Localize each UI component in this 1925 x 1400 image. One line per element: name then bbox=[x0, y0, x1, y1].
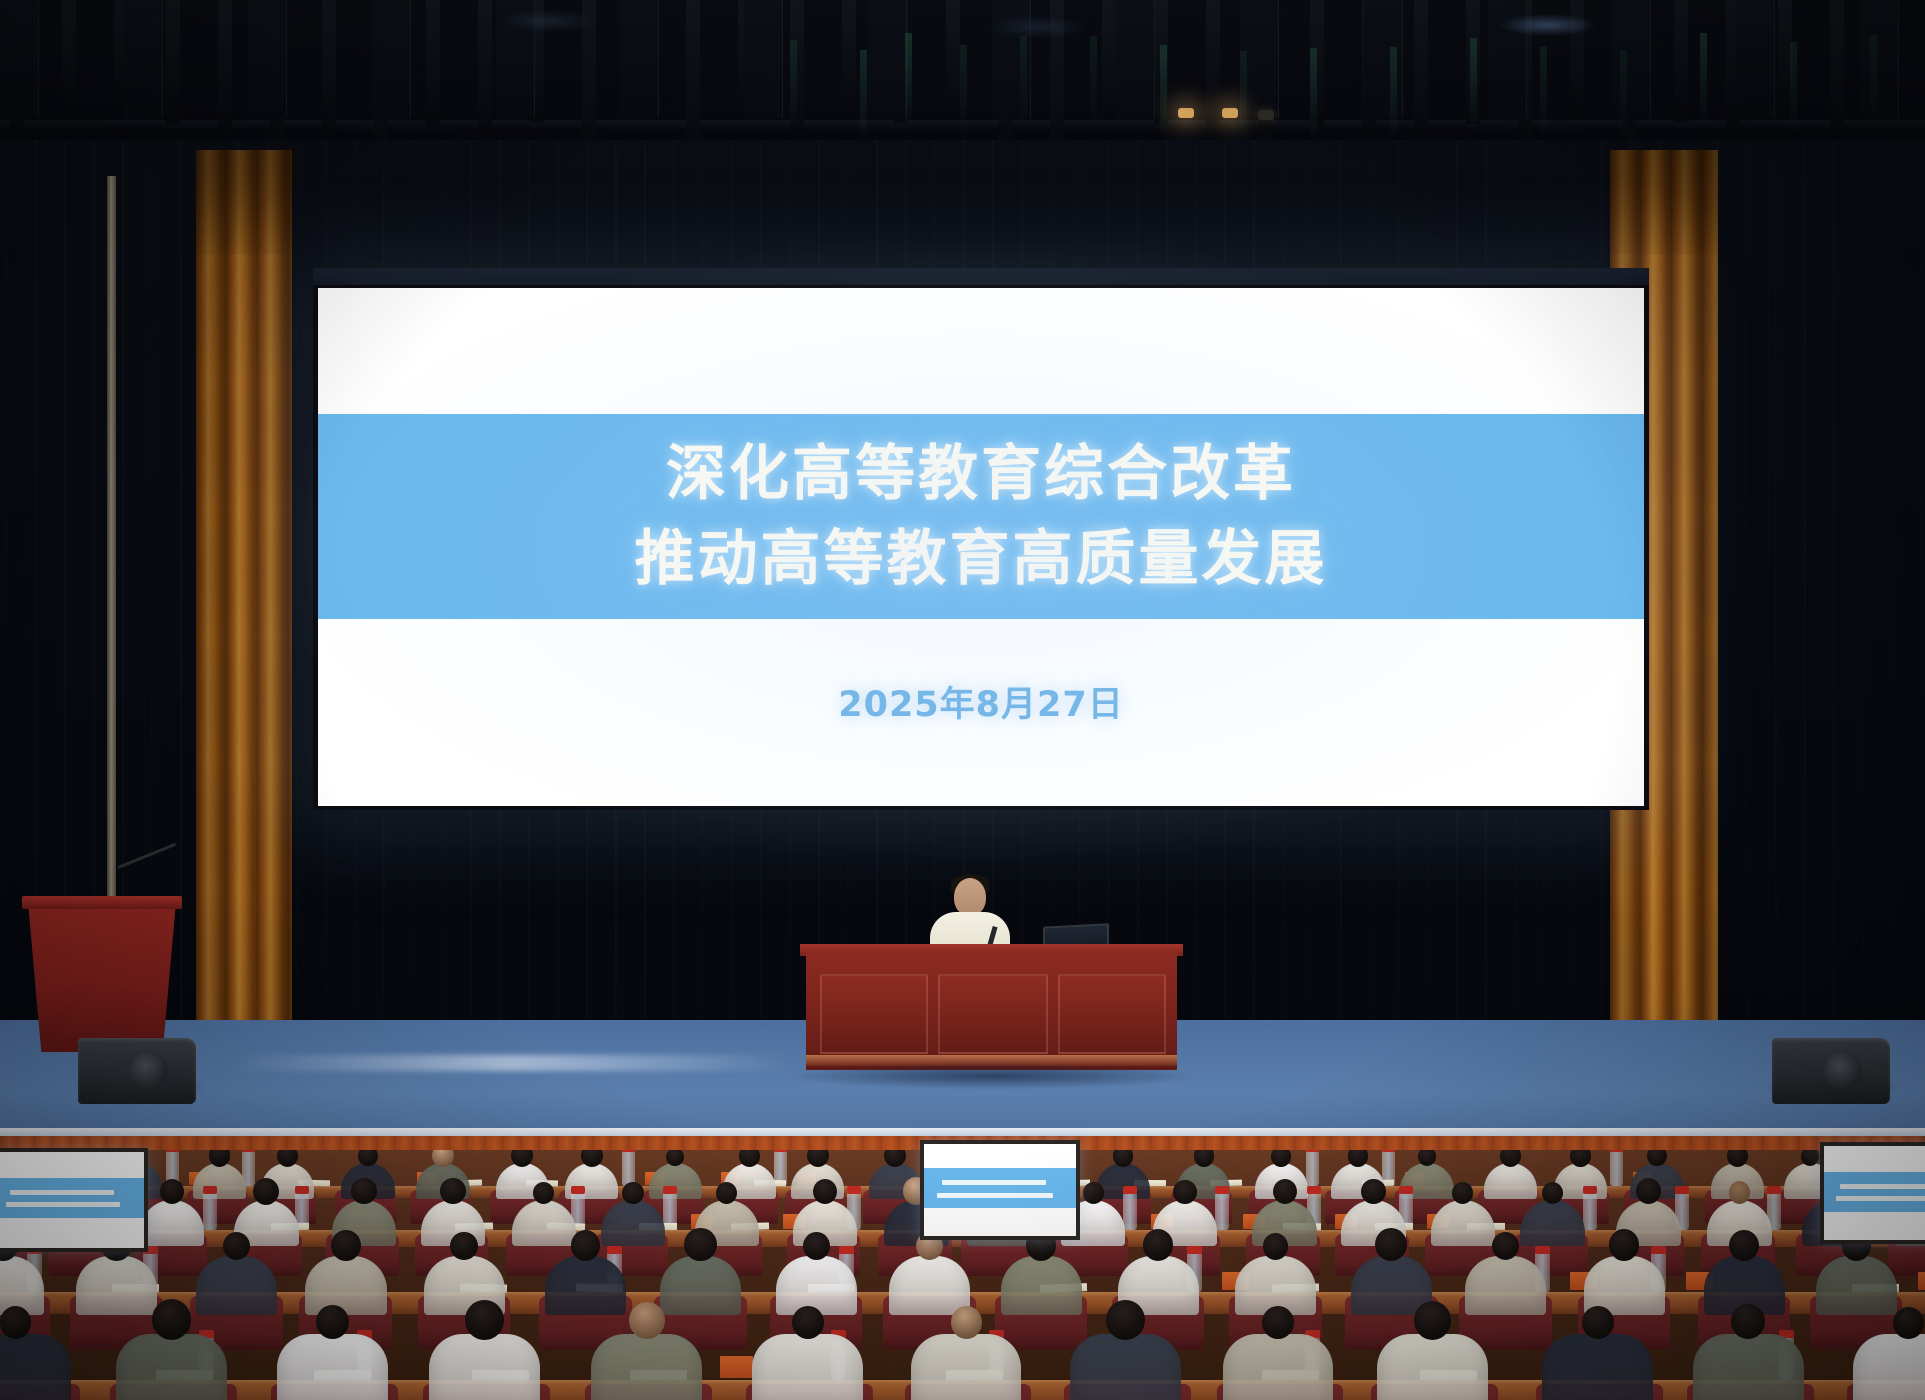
audience-head bbox=[792, 1306, 824, 1339]
audience-head bbox=[622, 1182, 643, 1204]
audience-head bbox=[813, 1179, 837, 1204]
audience-head bbox=[152, 1299, 191, 1340]
ceiling-glow bbox=[990, 16, 1086, 38]
green-light-strip bbox=[905, 33, 912, 125]
audience-person bbox=[752, 1334, 863, 1400]
mini-slide-title-line-1 bbox=[1840, 1184, 1925, 1189]
backdrop-fold bbox=[1775, 140, 1778, 1080]
audience-person bbox=[76, 1256, 157, 1315]
bottle-cap-icon bbox=[203, 1186, 217, 1194]
mini-slide-title-line-2 bbox=[6, 1202, 120, 1207]
truss-bar bbox=[946, 0, 960, 112]
audience-person bbox=[889, 1256, 970, 1315]
audience-person bbox=[776, 1256, 857, 1315]
bottle-cap-icon bbox=[1123, 1186, 1137, 1194]
bottle-cap-icon bbox=[839, 1246, 854, 1254]
audience-head bbox=[440, 1178, 466, 1205]
auditorium-photo: 深化高等教育综合改革 推动高等教育高质量发展 2025年8月27日 bbox=[0, 0, 1925, 1400]
audience-person bbox=[591, 1334, 702, 1400]
bottle-cap-icon bbox=[1215, 1186, 1229, 1194]
bottle-cap-icon bbox=[1675, 1186, 1689, 1194]
audience-person bbox=[1465, 1256, 1546, 1315]
green-light-strip bbox=[960, 45, 967, 137]
audience-head bbox=[1542, 1182, 1563, 1204]
bottle-cap-icon bbox=[1583, 1186, 1597, 1194]
water-bottle bbox=[203, 1192, 217, 1230]
bottle-cap-icon bbox=[295, 1186, 309, 1194]
mini-slide-title-line-2 bbox=[937, 1193, 1053, 1198]
audience-head bbox=[1106, 1300, 1145, 1340]
audience-head bbox=[1609, 1229, 1639, 1261]
audience-person bbox=[1816, 1256, 1897, 1315]
bottle-cap-icon bbox=[847, 1186, 861, 1194]
truss-bar bbox=[62, 0, 76, 114]
mini-slide-band bbox=[924, 1168, 1076, 1208]
stage-monitor-speaker-right bbox=[1772, 1038, 1890, 1104]
confidence-monitor-center bbox=[920, 1140, 1080, 1240]
audience-head bbox=[1262, 1306, 1294, 1339]
audience-head bbox=[465, 1300, 503, 1340]
lectern-podium bbox=[28, 902, 176, 1052]
mini-slide-title-line-2 bbox=[1836, 1196, 1925, 1201]
green-light-strip bbox=[1090, 36, 1097, 128]
backdrop-fold bbox=[180, 140, 183, 1080]
green-light-strip bbox=[1540, 46, 1547, 138]
bottle-cap-icon bbox=[1187, 1246, 1202, 1254]
stage-curtain-left bbox=[196, 150, 292, 1080]
audience-head bbox=[571, 1230, 600, 1261]
audience-name-card bbox=[720, 1356, 753, 1378]
audience-head bbox=[951, 1306, 982, 1338]
desk-panel bbox=[938, 974, 1048, 1054]
truss-bar bbox=[686, 0, 700, 149]
audience-head bbox=[533, 1182, 554, 1204]
audience-head bbox=[581, 1150, 603, 1167]
truss-bar bbox=[218, 0, 232, 135]
ceiling-fin bbox=[744, 0, 783, 118]
presenter-head bbox=[954, 878, 986, 916]
audience-person bbox=[1853, 1334, 1925, 1400]
presenter-desk bbox=[806, 952, 1177, 1070]
audience-head bbox=[1582, 1306, 1614, 1339]
water-bottle bbox=[1610, 1150, 1623, 1186]
water-bottle bbox=[622, 1150, 635, 1186]
audience-head bbox=[629, 1302, 665, 1339]
audience-person bbox=[911, 1334, 1022, 1400]
mini-slide-band bbox=[1824, 1172, 1925, 1212]
audience-head bbox=[1083, 1182, 1104, 1204]
audience-name-card bbox=[1918, 1272, 1925, 1290]
mini-slide-title-line-1 bbox=[942, 1180, 1046, 1185]
audience-head bbox=[331, 1230, 361, 1261]
audience-person bbox=[193, 1163, 246, 1199]
rig-light-icon bbox=[1178, 108, 1194, 118]
audience-person bbox=[1542, 1334, 1653, 1400]
audience-head bbox=[1361, 1179, 1386, 1205]
mini-slide-title-line-1 bbox=[10, 1190, 114, 1195]
audience-person bbox=[1377, 1334, 1488, 1400]
confidence-monitor-left bbox=[0, 1148, 148, 1252]
audience-head bbox=[1273, 1179, 1297, 1204]
audience-head bbox=[1570, 1150, 1590, 1167]
water-bottle bbox=[1583, 1192, 1597, 1230]
green-light-strip bbox=[1790, 42, 1797, 134]
bottle-cap-icon bbox=[166, 1150, 179, 1152]
water-bottle bbox=[1123, 1192, 1137, 1230]
audience-person bbox=[277, 1334, 388, 1400]
ceiling-glow bbox=[1500, 14, 1596, 36]
desk-panel bbox=[1058, 974, 1166, 1054]
bottle-cap-icon bbox=[1399, 1186, 1413, 1194]
audience-head bbox=[1452, 1182, 1473, 1204]
audience-person bbox=[1484, 1163, 1537, 1199]
green-light-strip bbox=[1020, 36, 1027, 128]
rig-light-icon bbox=[1258, 110, 1274, 120]
audience-head bbox=[0, 1306, 31, 1339]
confidence-monitor-right bbox=[1820, 1142, 1925, 1244]
backdrop-fold bbox=[1746, 140, 1749, 1080]
slide-date: 2025年8月27日 bbox=[318, 676, 1644, 727]
slide-title-line-1: 深化高等教育综合改革 bbox=[318, 432, 1644, 517]
water-bottle bbox=[1306, 1150, 1319, 1186]
floor-reflection bbox=[230, 1055, 790, 1071]
audience-head bbox=[1729, 1181, 1751, 1204]
audience-person bbox=[1001, 1256, 1082, 1315]
water-bottle bbox=[1215, 1192, 1229, 1230]
truss-bar bbox=[322, 0, 336, 136]
audience-person bbox=[660, 1256, 741, 1315]
audience-person bbox=[116, 1334, 227, 1400]
truss-bar bbox=[842, 0, 856, 111]
truss-bar bbox=[1102, 0, 1116, 117]
green-light-strip bbox=[1240, 51, 1247, 143]
truss-bar bbox=[1830, 0, 1844, 133]
audience-head bbox=[803, 1232, 830, 1260]
backdrop-fold bbox=[296, 140, 299, 1080]
green-light-strip bbox=[1160, 45, 1167, 137]
bottle-cap-icon bbox=[663, 1186, 677, 1194]
bottle-cap-icon bbox=[1535, 1246, 1550, 1254]
backdrop-fold bbox=[1804, 140, 1807, 1080]
green-light-strip bbox=[1620, 50, 1627, 142]
green-light-strip bbox=[1870, 35, 1877, 127]
stage-pole bbox=[107, 176, 116, 904]
green-light-strip bbox=[1470, 38, 1477, 130]
audience-head bbox=[450, 1232, 478, 1261]
truss-bar bbox=[1674, 0, 1688, 122]
backdrop-fold bbox=[1862, 140, 1865, 1080]
ceiling-fin bbox=[868, 0, 907, 118]
truss-bar bbox=[478, 0, 492, 134]
slide-title-line-2: 推动高等教育高质量发展 bbox=[318, 517, 1644, 602]
backdrop-fold bbox=[1833, 140, 1836, 1080]
audience-person bbox=[1693, 1334, 1804, 1400]
audience-head bbox=[1143, 1229, 1173, 1260]
truss-bar bbox=[1414, 0, 1428, 143]
audience-person bbox=[0, 1334, 71, 1400]
ceiling-fin bbox=[0, 0, 39, 118]
green-light-strip bbox=[1310, 48, 1317, 140]
green-light-strip bbox=[1700, 33, 1707, 125]
audience-person bbox=[1070, 1334, 1181, 1400]
green-light-strip bbox=[790, 40, 797, 132]
ceiling-fin bbox=[372, 0, 411, 118]
audience-person bbox=[196, 1256, 277, 1315]
bottle-cap-icon bbox=[1382, 1150, 1395, 1152]
mini-slide-band bbox=[0, 1178, 144, 1218]
ceiling-fin bbox=[1612, 0, 1651, 118]
audience-person bbox=[545, 1256, 626, 1315]
audience-head bbox=[1893, 1307, 1924, 1339]
desk-panel bbox=[820, 974, 928, 1054]
bottle-cap-icon bbox=[571, 1186, 585, 1194]
green-light-strip bbox=[1390, 47, 1397, 139]
bottle-cap-icon bbox=[1610, 1150, 1623, 1152]
ceiling-fin bbox=[620, 0, 659, 118]
bottle-cap-icon bbox=[622, 1150, 635, 1152]
audience-head bbox=[1414, 1301, 1451, 1340]
bottle-cap-icon bbox=[1651, 1246, 1666, 1254]
lectern-top bbox=[22, 896, 182, 909]
stage-monitor-speaker-left bbox=[78, 1038, 196, 1104]
ceiling-glow bbox=[500, 10, 596, 32]
backdrop-fold bbox=[1920, 140, 1923, 1080]
speaker-cone-icon bbox=[130, 1052, 168, 1090]
audience-head bbox=[684, 1228, 716, 1262]
bottle-cap-icon bbox=[242, 1150, 255, 1152]
truss-bar bbox=[166, 0, 180, 124]
audience-person bbox=[429, 1334, 540, 1400]
green-light-strip bbox=[860, 50, 867, 142]
bottle-cap-icon bbox=[774, 1150, 787, 1152]
truss-bar bbox=[426, 0, 440, 127]
audience-head bbox=[351, 1178, 377, 1205]
ceiling-fin bbox=[1364, 0, 1403, 118]
bottle-cap-icon bbox=[1307, 1186, 1321, 1194]
backdrop-fold bbox=[6, 140, 9, 1080]
backdrop-fold bbox=[1891, 140, 1894, 1080]
desk-shadow bbox=[790, 1063, 1195, 1089]
audience-head bbox=[316, 1305, 349, 1339]
bottle-cap-icon bbox=[1767, 1186, 1781, 1194]
audience-head bbox=[1729, 1230, 1759, 1261]
ceiling-fin bbox=[248, 0, 287, 118]
truss-bar bbox=[1206, 0, 1220, 129]
audience-person bbox=[305, 1256, 386, 1315]
ceiling-fin bbox=[1736, 0, 1775, 118]
bottle-cap-icon bbox=[1306, 1150, 1319, 1152]
audience-head bbox=[1375, 1228, 1407, 1261]
slide-title: 深化高等教育综合改革 推动高等教育高质量发展 bbox=[318, 432, 1644, 602]
ceiling-fin bbox=[124, 0, 163, 118]
audience-head bbox=[253, 1178, 279, 1205]
ceiling-fin bbox=[1860, 0, 1899, 118]
audience-person bbox=[1223, 1334, 1334, 1400]
ceiling-fin bbox=[1116, 0, 1155, 118]
bottle-cap-icon bbox=[607, 1246, 622, 1254]
speaker-cone-icon bbox=[1824, 1052, 1862, 1090]
rig-light-icon bbox=[1222, 108, 1238, 118]
audience-head bbox=[1173, 1180, 1196, 1204]
presentation-slide: 深化高等教育综合改革 推动高等教育高质量发展 2025年8月27日 bbox=[318, 288, 1644, 806]
